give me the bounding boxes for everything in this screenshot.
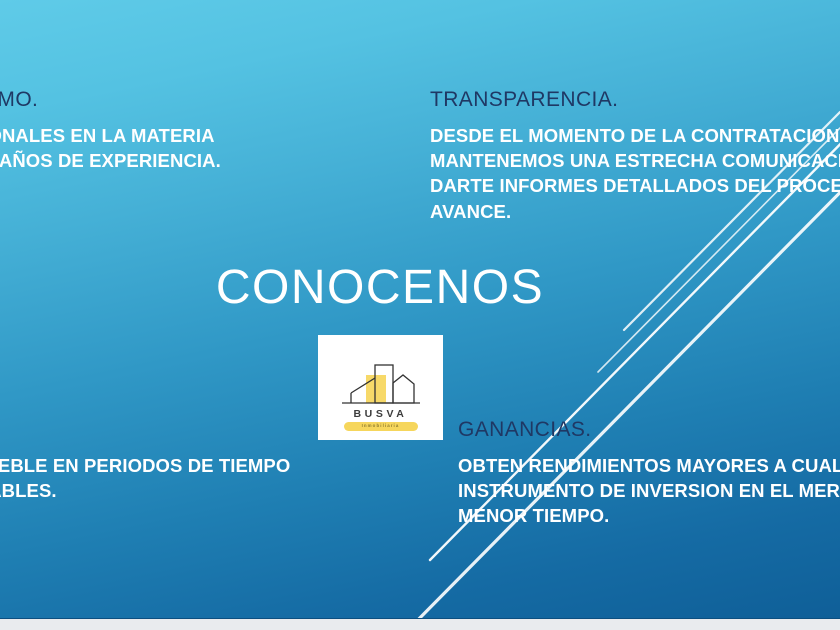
slide-canvas: ONALISMO. ROFESIONALES EN LA MATERIA PAL… [0,0,840,618]
block-heading-profesionalismo: ONALISMO. [0,88,438,112]
block-heading-transparencia: TRANSPARENCIA. [430,88,840,112]
slide-viewport: ONALISMO. ROFESIONALES EN LA MATERIA PAL… [0,0,840,630]
slide-bottom-edge [0,618,840,630]
text-block-ganancias: GANANCIAS. OBTEN RENDIMIENTOS MAYORES A … [458,418,840,529]
text-block-transparencia: TRANSPARENCIA. DESDE EL MOMENTO DE LA CO… [430,88,840,224]
block-heading-ganancias: GANANCIAS. [458,418,840,442]
block-body-transparencia: DESDE EL MOMENTO DE LA CONTRATACION MANT… [430,123,840,224]
building-logo-icon [338,361,424,407]
text-block-profesionalismo: ONALISMO. ROFESIONALES EN LA MATERIA PAL… [0,88,438,173]
slide-title: CONOCENOS [0,264,760,312]
block-heading-plusvalia: A. [0,418,448,442]
block-body-plusvalia: DEL INMUEBLE EN PERIODOS DE TIEMPO Y FAV… [0,453,448,503]
text-block-plusvalia: A. DEL INMUEBLE EN PERIODOS DE TIEMPO Y … [0,418,448,503]
block-body-profesionalismo: ROFESIONALES EN LA MATERIA PALDAN AÑOS D… [0,123,438,173]
block-body-ganancias: OBTEN RENDIMIENTOS MAYORES A CUALQUIER I… [458,453,840,528]
